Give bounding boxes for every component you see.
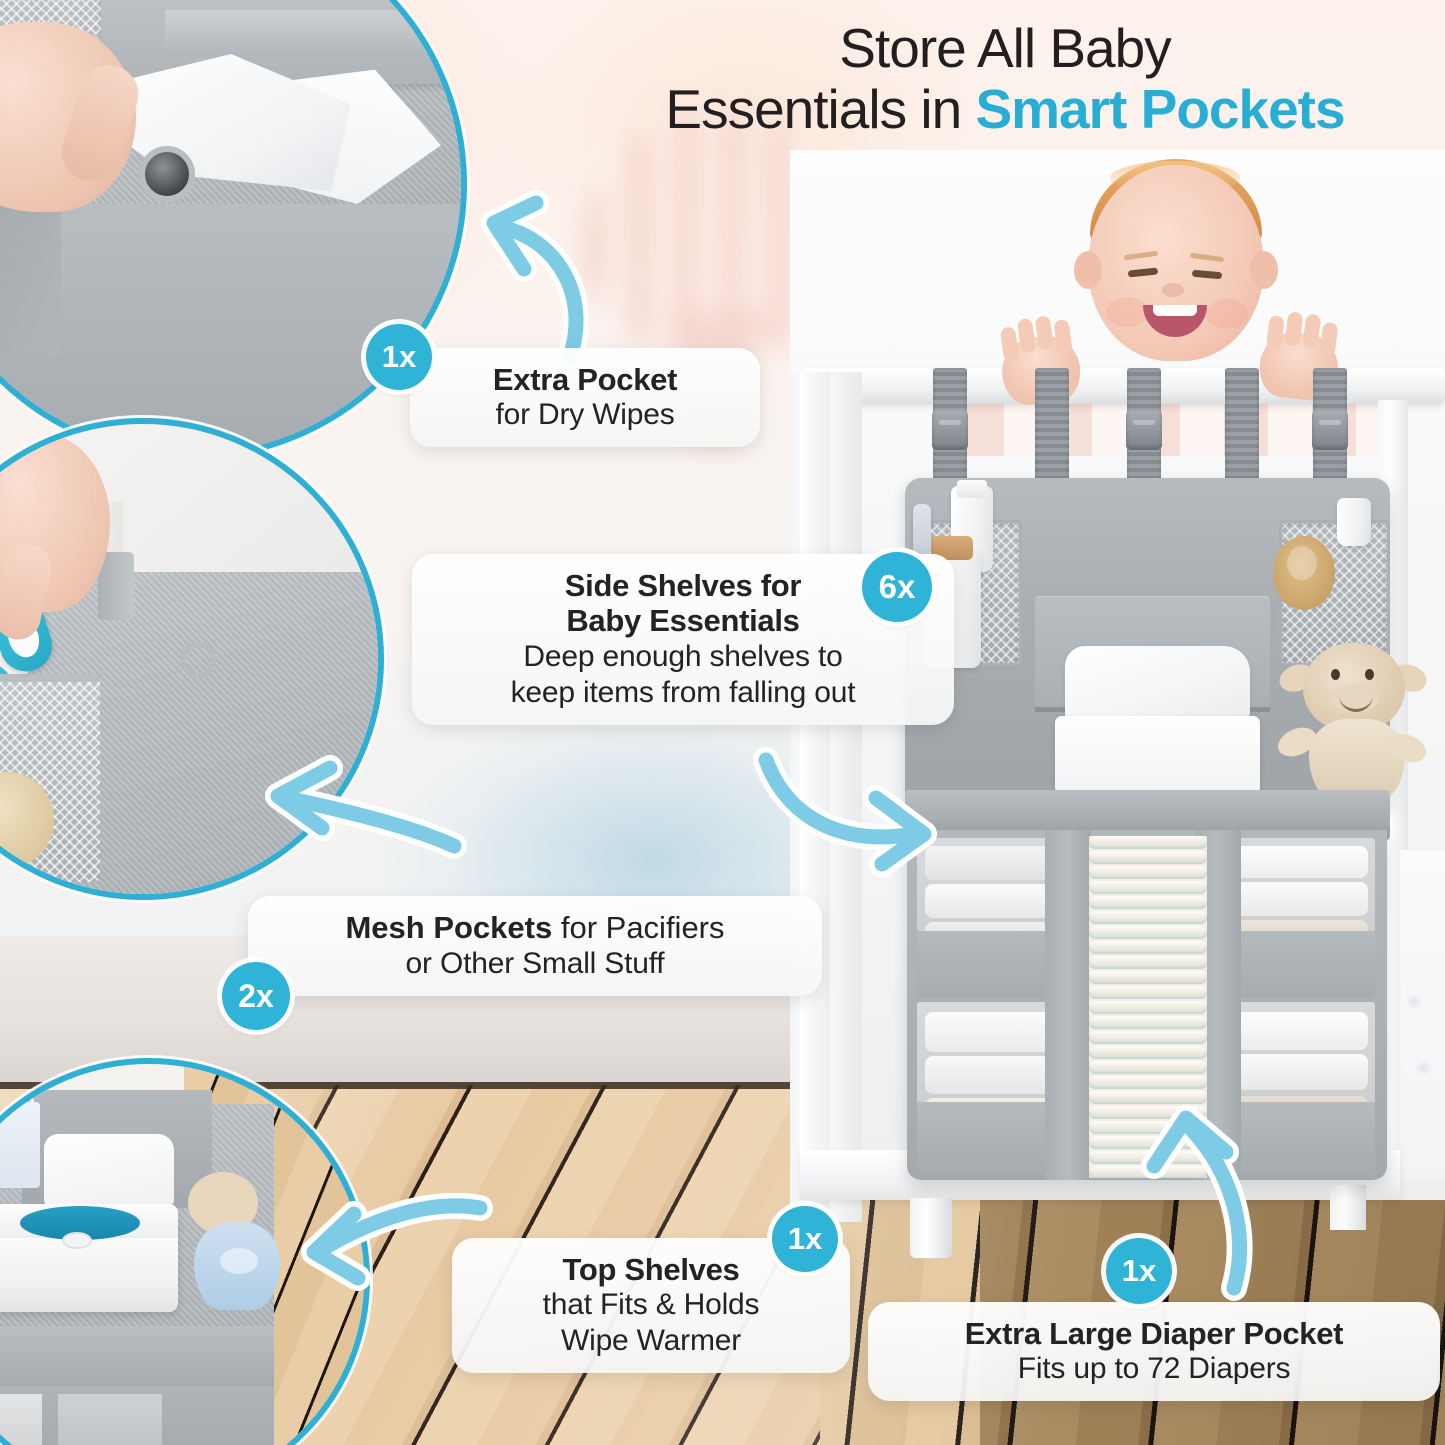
callout-top-shelves-subtitle-1: that Fits & Holds: [478, 1287, 824, 1323]
headline-accent: Smart Pockets: [975, 78, 1344, 140]
callout-side-shelves-subtitle-2: keep items from falling out: [438, 675, 928, 711]
infographic-canvas: RR: [0, 0, 1445, 1445]
callout-extra-pocket: Extra Pocket for Dry Wipes: [410, 348, 760, 447]
headline-line-2: Essentials in Smart Pockets: [575, 79, 1435, 140]
callout-side-shelves-subtitle-1: Deep enough shelves to: [438, 639, 928, 675]
headline-line-2-prefix: Essentials in: [665, 78, 975, 140]
badge-extra-pocket: 1x: [366, 324, 432, 390]
callout-mesh-pockets-subtitle: or Other Small Stuff: [274, 946, 796, 982]
arrow-to-extra-pocket: [412, 185, 602, 375]
callout-mesh-pockets-title: Mesh Pockets for Pacifiers: [274, 910, 796, 946]
badge-side-shelves: 6x: [862, 552, 932, 622]
plush-toy: [1287, 643, 1417, 798]
badge-diaper-pocket: 1x: [1106, 1238, 1172, 1304]
badge-mesh-pockets: 2x: [222, 962, 290, 1030]
callout-side-shelves-title-2: Baby Essentials: [438, 603, 928, 638]
callout-mesh-pockets: Mesh Pockets for Pacifiers or Other Smal…: [248, 896, 822, 996]
organizer-top-body: [905, 478, 1390, 808]
callout-mesh-pockets-title-rest: for Pacifiers: [552, 910, 724, 945]
photo-extra-pocket: [0, 0, 467, 460]
page-headline: Store All Baby Essentials in Smart Pocke…: [575, 18, 1435, 139]
callout-top-shelves-title: Top Shelves: [478, 1252, 824, 1287]
callout-diaper-pocket-subtitle: Fits up to 72 Diapers: [894, 1351, 1414, 1387]
arrow-to-side-shelves: [752, 742, 952, 882]
callout-mesh-pockets-title-bold: Mesh Pockets: [345, 910, 552, 945]
crib-foot-left: [910, 1198, 952, 1258]
badge-top-shelves: 1x: [772, 1206, 838, 1272]
callout-top-shelves-subtitle-2: Wipe Warmer: [478, 1323, 824, 1359]
callout-extra-pocket-subtitle: for Dry Wipes: [436, 397, 734, 433]
diaper-caddy-organizer: RR: [895, 400, 1400, 1200]
grommet-icon: [139, 146, 195, 202]
callout-diaper-pocket-title: Extra Large Diaper Pocket: [894, 1316, 1414, 1351]
callout-extra-pocket-title: Extra Pocket: [436, 362, 734, 397]
callout-side-shelves-title-1: Side Shelves for: [438, 568, 928, 603]
callout-diaper-pocket: Extra Large Diaper Pocket Fits up to 72 …: [868, 1302, 1440, 1401]
headline-line-1: Store All Baby: [575, 18, 1435, 79]
crib-bedding: [1400, 850, 1445, 1180]
shelf-right-top: [1225, 838, 1375, 998]
arrow-to-mesh-pocket: [248, 716, 478, 866]
